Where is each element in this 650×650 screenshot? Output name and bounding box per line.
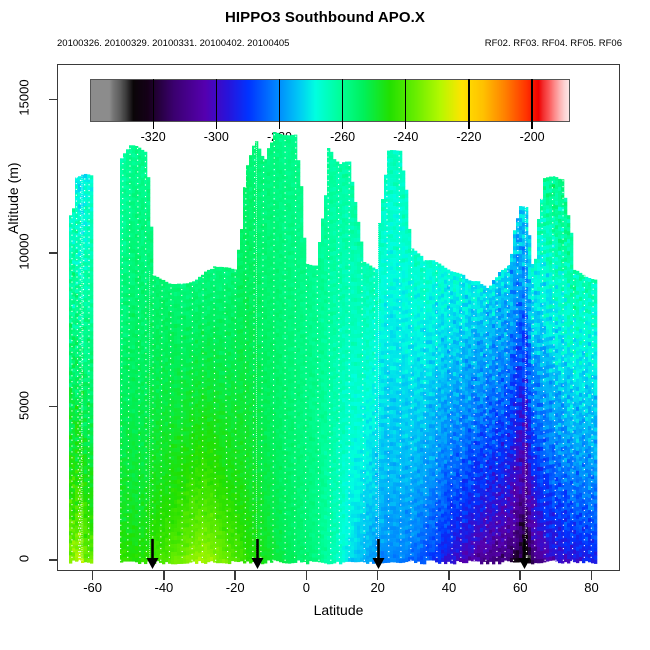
- curtain-heatmap: [57, 64, 620, 571]
- plot-area: 050001000015000 -60-40-20020406080 Latit…: [57, 64, 620, 571]
- page-title: HIPPO3 Southbound APO.X: [0, 9, 650, 26]
- x-axis-tick: [591, 571, 593, 580]
- x-axis-title: Latitude: [57, 602, 620, 618]
- x-axis-tick: [163, 571, 165, 580]
- x-axis-tick: [234, 571, 236, 580]
- x-axis-tick-label: -40: [154, 580, 173, 595]
- x-axis-tick-label: -60: [83, 580, 102, 595]
- y-axis-tick-label: 0: [17, 536, 32, 582]
- x-axis-tick-label: 20: [370, 580, 384, 595]
- y-axis-tick-label: 10000: [17, 228, 32, 274]
- flight-dates-label: 20100326. 20100329. 20100331. 20100402. …: [57, 38, 289, 49]
- x-axis-tick-label: 60: [513, 580, 527, 595]
- x-axis-tick: [92, 571, 94, 580]
- x-axis-tick: [306, 571, 308, 580]
- x-axis-tick: [377, 571, 379, 580]
- y-axis-tick: [49, 99, 58, 101]
- y-axis-tick: [49, 406, 58, 408]
- y-axis-tick-label: 15000: [17, 75, 32, 121]
- x-axis-tick-label: 80: [584, 580, 598, 595]
- x-axis-tick: [519, 571, 521, 580]
- x-axis-tick-label: -20: [226, 580, 245, 595]
- y-axis-title: Altitude (m): [5, 162, 21, 234]
- x-axis-tick-label: 40: [442, 580, 456, 595]
- x-axis-tick: [448, 571, 450, 580]
- y-axis-tick: [49, 559, 58, 561]
- flight-numbers-label: RF02. RF03. RF04. RF05. RF06: [485, 38, 622, 49]
- figure-canvas: HIPPO3 Southbound APO.X 20100326. 201003…: [0, 0, 650, 650]
- y-axis-tick: [49, 252, 58, 254]
- y-axis-tick-label: 5000: [17, 382, 32, 428]
- x-axis-tick-label: 0: [303, 580, 310, 595]
